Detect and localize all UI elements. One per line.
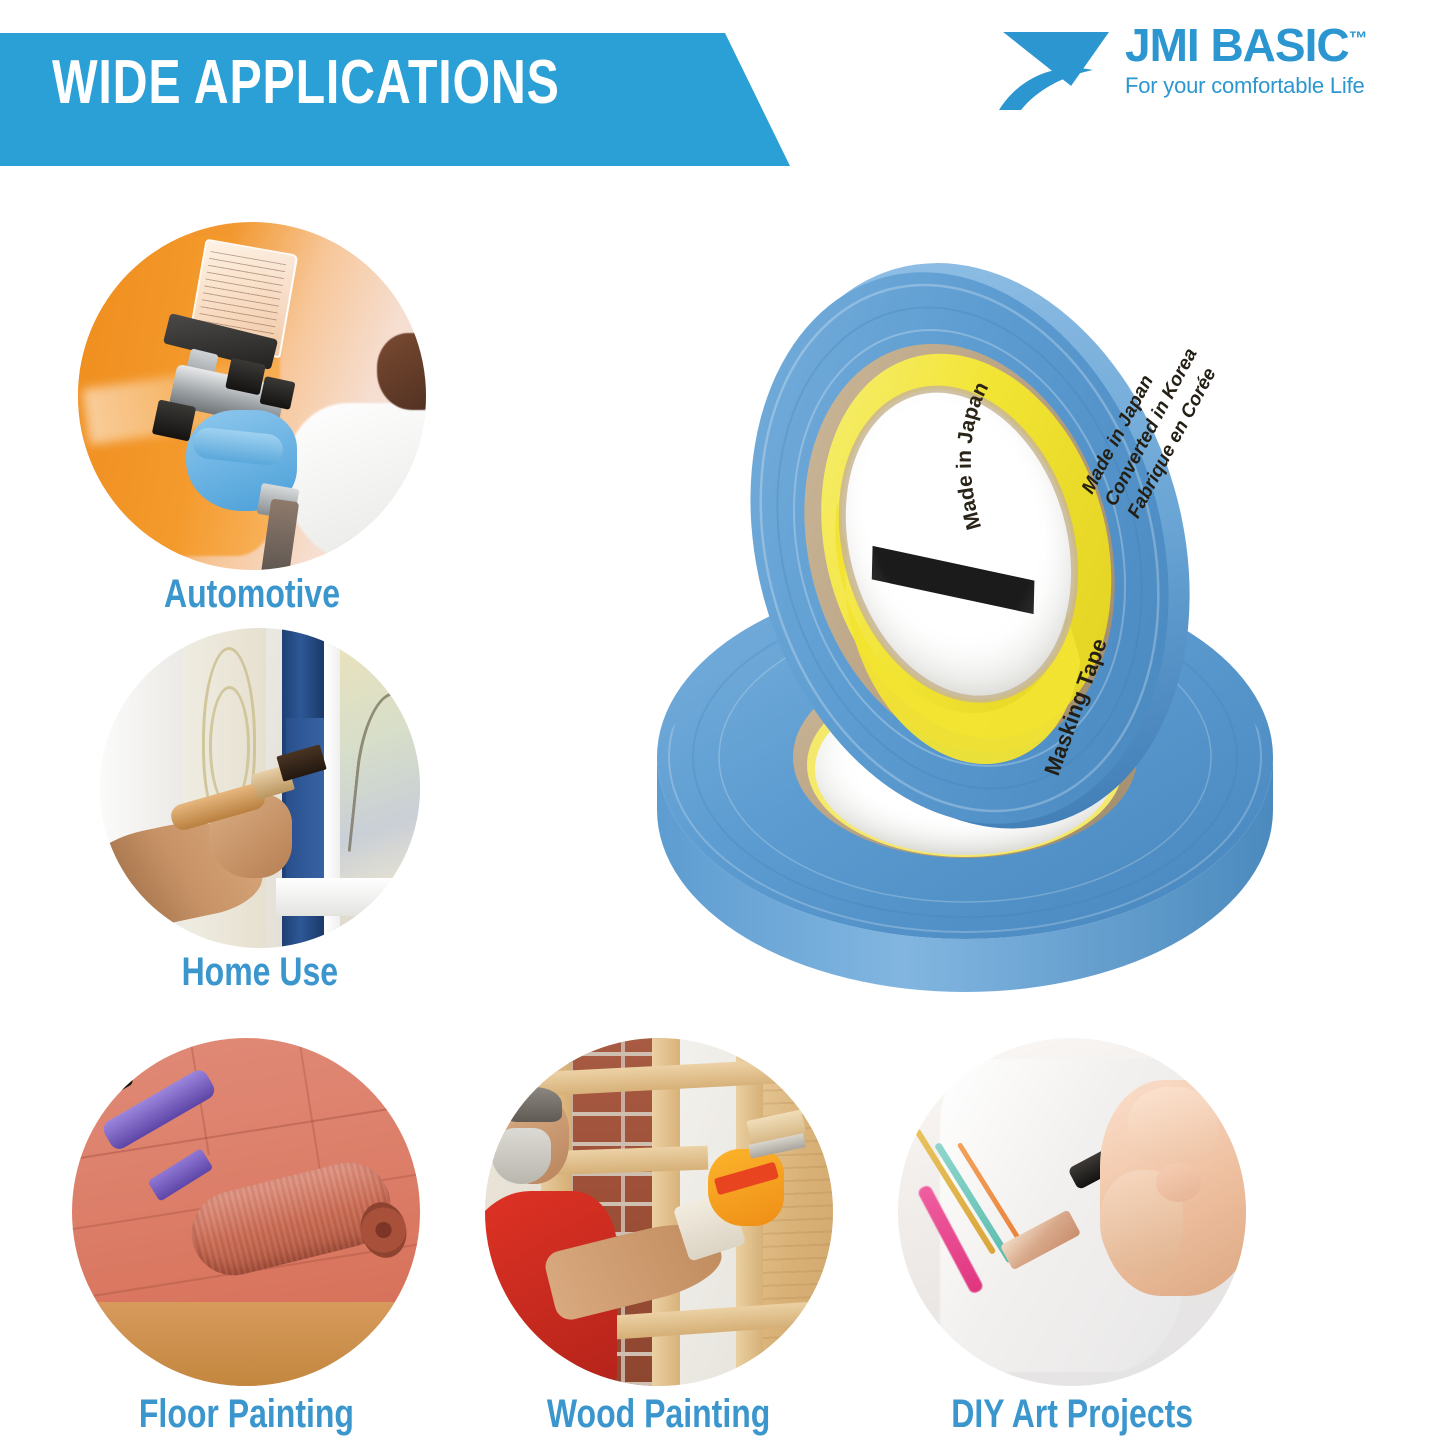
application-floor-painting: Floor Painting — [72, 1038, 420, 1438]
application-automotive: Automotive — [78, 222, 426, 622]
application-diy-art: DIY Art Projects — [898, 1038, 1246, 1438]
diy-art-brush-photo — [898, 1038, 1246, 1386]
logo-name: JMI BASIC™ — [1125, 22, 1397, 68]
marketing-infographic: WIDE APPLICATIONS JMI BASIC™ For your co… — [0, 0, 1445, 1445]
bird-swoosh-icon — [997, 26, 1119, 112]
application-wood-painting: Wood Painting — [485, 1038, 833, 1438]
brand-logo: JMI BASIC™ For your comfortable Life — [997, 22, 1397, 118]
label-home-use: Home Use — [100, 952, 420, 992]
product-photo-masking-tape-rolls: Made in Japan Made in Japan Converted in… — [620, 165, 1320, 1005]
label-automotive-text: Automotive — [164, 574, 340, 614]
logo-name-text: JMI BASIC — [1125, 19, 1349, 71]
floor-painting-roller-photo — [72, 1038, 420, 1386]
label-floor-painting-text: Floor Painting — [138, 1394, 353, 1434]
automotive-spray-gun-photo — [78, 222, 426, 570]
label-wood-painting-text: Wood Painting — [547, 1394, 770, 1434]
trademark-symbol: ™ — [1349, 29, 1367, 50]
logo-tagline: For your comfortable Life — [1125, 75, 1397, 97]
home-use-window-painting-photo — [100, 628, 420, 948]
label-automotive: Automotive — [78, 574, 426, 614]
label-floor-painting: Floor Painting — [72, 1394, 420, 1434]
label-diy-art-text: DIY Art Projects — [951, 1394, 1193, 1434]
wood-painting-frame-photo — [485, 1038, 833, 1386]
label-home-use-text: Home Use — [182, 952, 339, 992]
application-home-use: Home Use — [100, 628, 420, 1008]
label-diy-art: DIY Art Projects — [898, 1394, 1246, 1434]
label-wood-painting: Wood Painting — [485, 1394, 833, 1434]
page-title: WIDE APPLICATIONS — [52, 52, 560, 114]
